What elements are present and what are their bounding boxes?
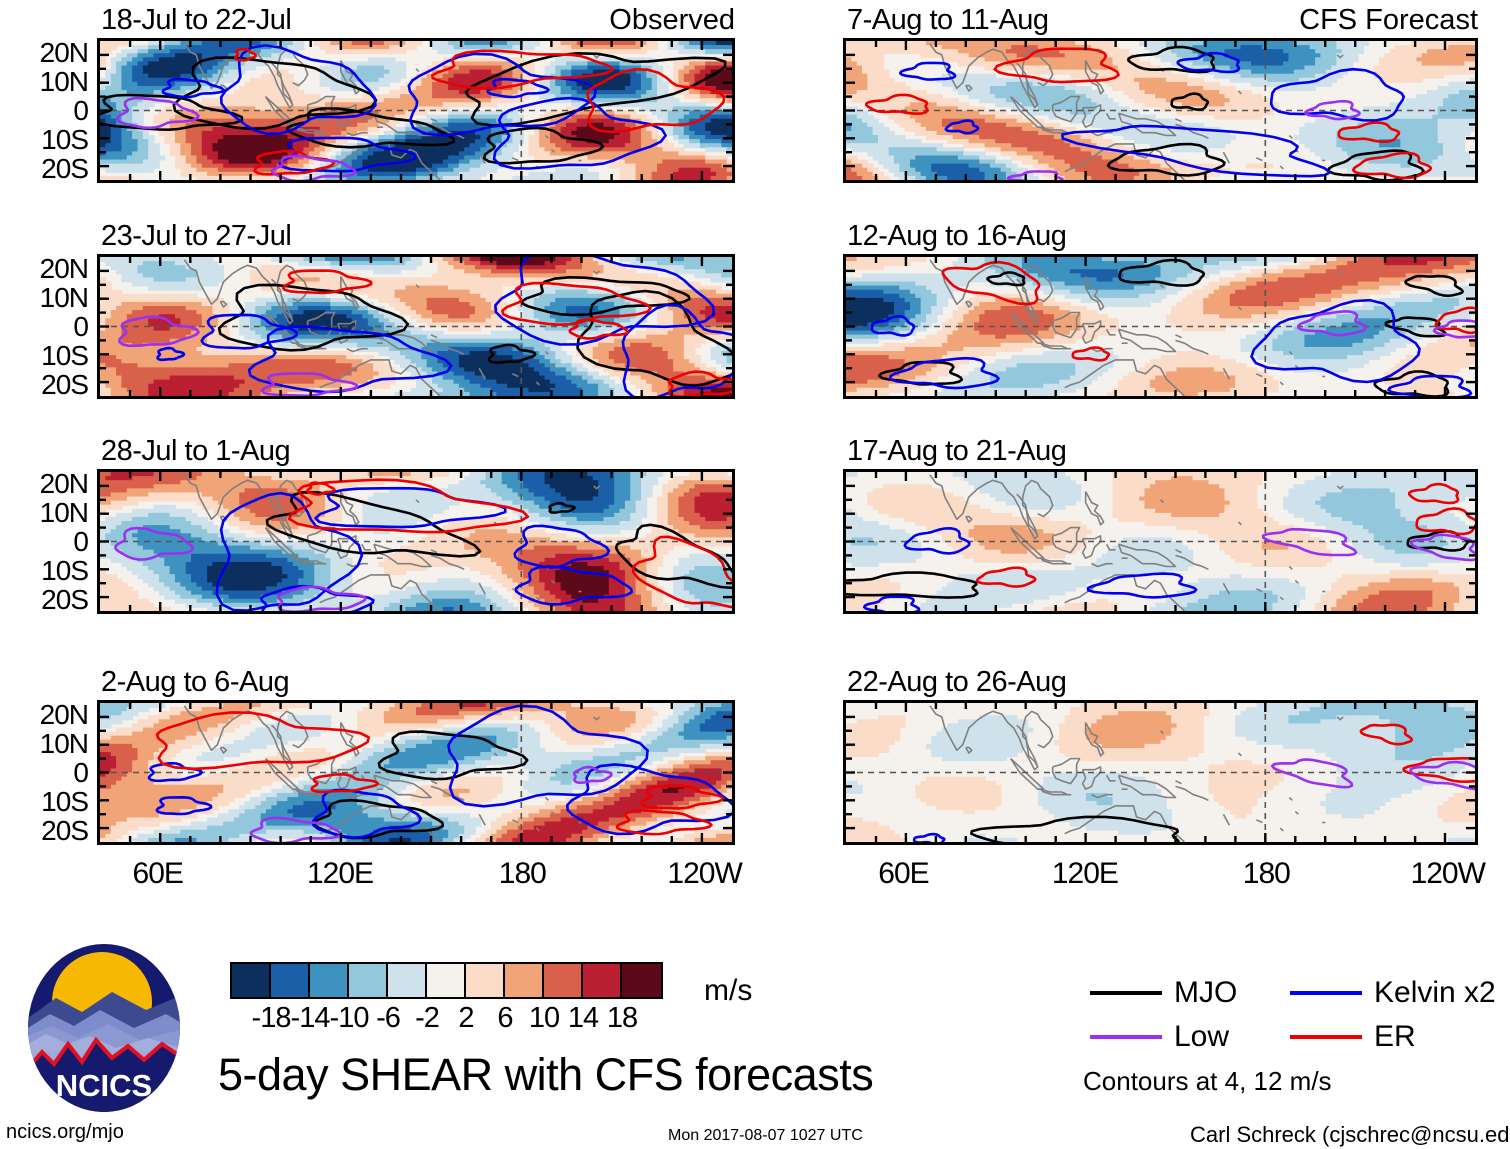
timestamp: Mon 2017-08-07 1027 UTC xyxy=(668,1128,863,1144)
ytick-10N-row2: 10N xyxy=(0,284,88,312)
ytick-10S-row4: 10S xyxy=(0,788,88,816)
xtick-60E-col1: 60E xyxy=(106,859,210,889)
author-credit: Carl Schreck (cjschrec@ncsu.edu) xyxy=(1190,1124,1510,1146)
panel-title-fcst-4: 22-Aug to 26-Aug xyxy=(847,668,1066,697)
map-panel-fcst-4 xyxy=(843,700,1478,845)
colorbar-swatch-6 xyxy=(466,964,505,997)
shear-field-obs-4 xyxy=(100,703,732,842)
site-url[interactable]: ncics.org/mjo xyxy=(6,1122,124,1142)
ytick-10S-row2: 10S xyxy=(0,342,88,370)
xtick-120E-col1: 120E xyxy=(288,859,392,889)
colorbar-swatch-5 xyxy=(427,964,466,997)
ytick-10S-row3: 10S xyxy=(0,557,88,585)
map-panel-obs-1 xyxy=(97,38,735,183)
legend-line-kelvin-x2 xyxy=(1290,991,1362,995)
shear-field-obs-1 xyxy=(100,41,732,180)
legend-label-kelvin-x2: Kelvin x2 xyxy=(1374,978,1496,1008)
shear-field-fcst-2 xyxy=(846,257,1475,396)
legend-line-low xyxy=(1090,1035,1162,1039)
panel-title-fcst-1: 7-Aug to 11-Aug xyxy=(847,6,1049,35)
panel-title-fcst-3: 17-Aug to 21-Aug xyxy=(847,437,1066,466)
colorbar-units: m/s xyxy=(704,976,752,1006)
ytick-0-row4: 0 xyxy=(0,759,88,787)
ytick-20N-row3: 20N xyxy=(0,470,88,498)
xtick-60E-col2: 60E xyxy=(851,859,955,889)
shear-field-fcst-3 xyxy=(846,472,1475,611)
xtick-120E-col2: 120E xyxy=(1033,859,1137,889)
legend-line-mjo xyxy=(1090,991,1162,995)
colorbar-swatch-1 xyxy=(271,964,310,997)
ytick-0-row2: 0 xyxy=(0,313,88,341)
legend-label-er: ER xyxy=(1374,1022,1416,1052)
colorbar-tick-18: 18 xyxy=(592,1004,652,1033)
ytick-0-row1: 0 xyxy=(0,97,88,125)
ytick-0-row3: 0 xyxy=(0,528,88,556)
map-panel-fcst-3 xyxy=(843,469,1478,614)
panel-title-obs-3: 28-Jul to 1-Aug xyxy=(101,437,290,466)
ytick-20S-row2: 20S xyxy=(0,371,88,399)
xtick-180-col2: 180 xyxy=(1214,859,1318,889)
ytick-20S-row3: 20S xyxy=(0,586,88,614)
legend-label-mjo: MJO xyxy=(1174,978,1237,1008)
page-title: 5-day SHEAR with CFS forecasts xyxy=(218,1052,873,1097)
shear-field-fcst-4 xyxy=(846,703,1475,842)
ytick-20N-row4: 20N xyxy=(0,701,88,729)
map-panel-fcst-2 xyxy=(843,254,1478,399)
colorbar-swatch-9 xyxy=(583,964,622,997)
colorbar-swatch-8 xyxy=(544,964,583,997)
xtick-120W-col2: 120W xyxy=(1396,859,1500,889)
panel-title-obs-4: 2-Aug to 6-Aug xyxy=(101,668,289,697)
panel-title-fcst-2: 12-Aug to 16-Aug xyxy=(847,222,1066,251)
ytick-10N-row1: 10N xyxy=(0,68,88,96)
ytick-20S-row1: 20S xyxy=(0,155,88,183)
column-header-forecast: CFS Forecast xyxy=(1278,6,1478,35)
ncics-logo: NCICS xyxy=(16,940,192,1121)
colorbar xyxy=(230,962,663,999)
colorbar-swatch-10 xyxy=(622,964,661,997)
shear-field-obs-3 xyxy=(100,472,732,611)
panel-title-obs-1: 18-Jul to 22-Jul xyxy=(101,6,291,35)
colorbar-swatch-0 xyxy=(232,964,271,997)
colorbar-swatch-2 xyxy=(310,964,349,997)
colorbar-swatch-3 xyxy=(349,964,388,997)
legend-line-er xyxy=(1290,1035,1362,1039)
map-panel-obs-2 xyxy=(97,254,735,399)
colorbar-swatch-7 xyxy=(505,964,544,997)
xtick-120W-col1: 120W xyxy=(653,859,757,889)
ytick-10S-row1: 10S xyxy=(0,126,88,154)
map-panel-fcst-1 xyxy=(843,38,1478,183)
ytick-10N-row4: 10N xyxy=(0,730,88,758)
map-panel-obs-4 xyxy=(97,700,735,845)
column-header-observed: Observed xyxy=(535,6,735,35)
ytick-10N-row3: 10N xyxy=(0,499,88,527)
shear-field-fcst-1 xyxy=(846,41,1475,180)
map-panel-obs-3 xyxy=(97,469,735,614)
panel-title-obs-2: 23-Jul to 27-Jul xyxy=(101,222,291,251)
ytick-20S-row4: 20S xyxy=(0,817,88,845)
contour-note: Contours at 4, 12 m/s xyxy=(1083,1068,1332,1094)
ytick-20N-row2: 20N xyxy=(0,255,88,283)
ytick-20N-row1: 20N xyxy=(0,39,88,67)
xtick-180-col1: 180 xyxy=(470,859,574,889)
legend-label-low: Low xyxy=(1174,1022,1229,1052)
shear-field-obs-2 xyxy=(100,257,732,396)
colorbar-swatch-4 xyxy=(388,964,427,997)
